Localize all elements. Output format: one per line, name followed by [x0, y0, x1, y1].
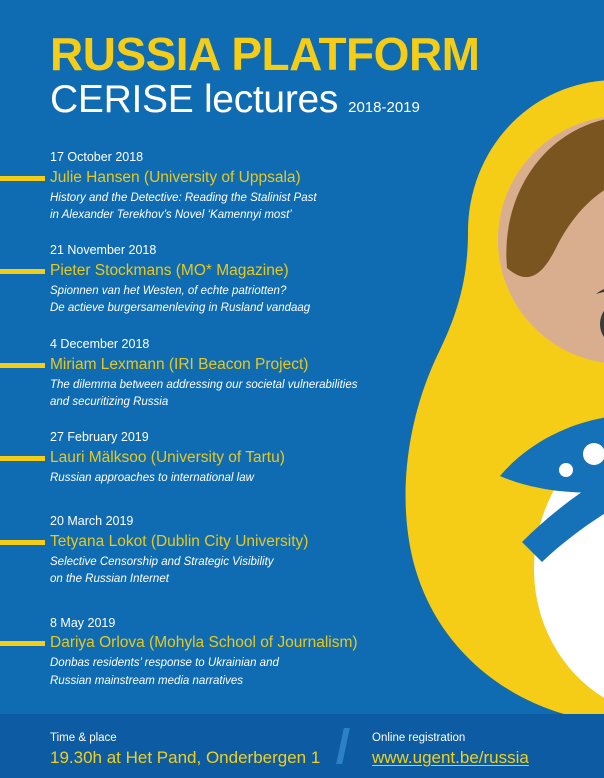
registration-url-link[interactable]: www.ugent.be/russia: [372, 747, 529, 770]
registration-block: Online registration www.ugent.be/russia: [372, 730, 529, 770]
lecture-date: 17 October 2018: [50, 148, 430, 167]
lecture-description-line: Donbas residents’ response to Ukrainian …: [50, 655, 430, 671]
list-item: 4 December 2018 Miriam Lexmann (IRI Beac…: [0, 335, 430, 410]
bullet-dash-icon: [0, 456, 45, 461]
list-item: 27 February 2019 Lauri Mälksoo (Universi…: [0, 428, 430, 486]
page-title: RUSSIA PLATFORM: [50, 30, 479, 78]
lecture-speaker: Miriam Lexmann (IRI Beacon Project): [50, 354, 308, 376]
lecture-description-line: History and the Detective: Reading the S…: [50, 190, 430, 206]
lecture-speaker-row: Lauri Mälksoo (University of Tartu): [0, 447, 430, 469]
lecture-speaker-row: Julie Hansen (University of Uppsala): [0, 167, 430, 189]
matryoshka-doll-illustration: [404, 72, 604, 722]
bullet-dash-icon: [0, 540, 45, 545]
bullet-dash-icon: [0, 641, 45, 646]
page-subtitle: CERISE lectures: [50, 80, 338, 121]
lecture-speaker-row: Miriam Lexmann (IRI Beacon Project): [0, 354, 430, 376]
lecture-description-line: Selective Censorship and Strategic Visib…: [50, 554, 430, 570]
bullet-dash-icon: [0, 363, 45, 368]
lecture-speaker-row: Tetyana Lokot (Dublin City University): [0, 531, 430, 553]
lecture-speaker: Tetyana Lokot (Dublin City University): [50, 531, 308, 553]
poster: RUSSIA PLATFORM CERISE lectures 2018-201…: [0, 0, 604, 778]
lecture-speaker: Julie Hansen (University of Uppsala): [50, 167, 301, 189]
lecture-date: 4 December 2018: [50, 335, 430, 354]
lecture-speaker-row: Pieter Stockmans (MO* Magazine): [0, 260, 430, 282]
lecture-description-line: Spionnen van het Westen, of echte patrio…: [50, 283, 430, 299]
lecture-speaker: Pieter Stockmans (MO* Magazine): [50, 260, 289, 282]
lecture-description-line: in Alexander Terekhov’s Novel ‘Kamennyi …: [50, 207, 430, 223]
list-item: 20 March 2019 Tetyana Lokot (Dublin City…: [0, 512, 430, 587]
lecture-description-line: Russian mainstream media narratives: [50, 673, 430, 689]
poster-header: RUSSIA PLATFORM CERISE lectures 2018-201…: [50, 30, 479, 121]
bullet-dash-icon: [0, 269, 45, 274]
time-place-value: 19.30h at Het Pand, Onderbergen 1: [50, 747, 320, 770]
lecture-description-line: The dilemma between addressing our socie…: [50, 377, 430, 393]
lecture-date: 21 November 2018: [50, 241, 430, 260]
registration-label: Online registration: [372, 730, 529, 746]
lecture-speaker-row: Dariya Orlova (Mohyla School of Journali…: [0, 632, 430, 654]
poster-footer: Time & place 19.30h at Het Pand, Onderbe…: [0, 714, 604, 778]
list-item: 17 October 2018 Julie Hansen (University…: [0, 148, 430, 223]
subtitle-row: CERISE lectures 2018-2019: [50, 80, 479, 121]
lecture-speaker: Lauri Mälksoo (University of Tartu): [50, 447, 285, 469]
academic-year-label: 2018-2019: [348, 99, 420, 116]
list-item: 8 May 2019 Dariya Orlova (Mohyla School …: [0, 614, 430, 689]
lecture-list: 17 October 2018 Julie Hansen (University…: [0, 148, 430, 707]
time-place-block: Time & place 19.30h at Het Pand, Onderbe…: [50, 730, 320, 770]
bullet-dash-icon: [0, 176, 45, 181]
lecture-description-line: on the Russian Internet: [50, 571, 430, 587]
divider-slash: [336, 728, 350, 764]
lecture-description-line: Russian approaches to international law: [50, 470, 430, 486]
lecture-date: 8 May 2019: [50, 614, 430, 633]
lecture-date: 20 March 2019: [50, 512, 430, 531]
lecture-speaker: Dariya Orlova (Mohyla School of Journali…: [50, 632, 358, 654]
time-place-label: Time & place: [50, 730, 320, 746]
lecture-date: 27 February 2019: [50, 428, 430, 447]
lecture-description-line: and securitizing Russia: [50, 394, 430, 410]
lecture-description-line: De actieve burgersamenleving in Rusland …: [50, 300, 430, 316]
list-item: 21 November 2018 Pieter Stockmans (MO* M…: [0, 241, 430, 316]
